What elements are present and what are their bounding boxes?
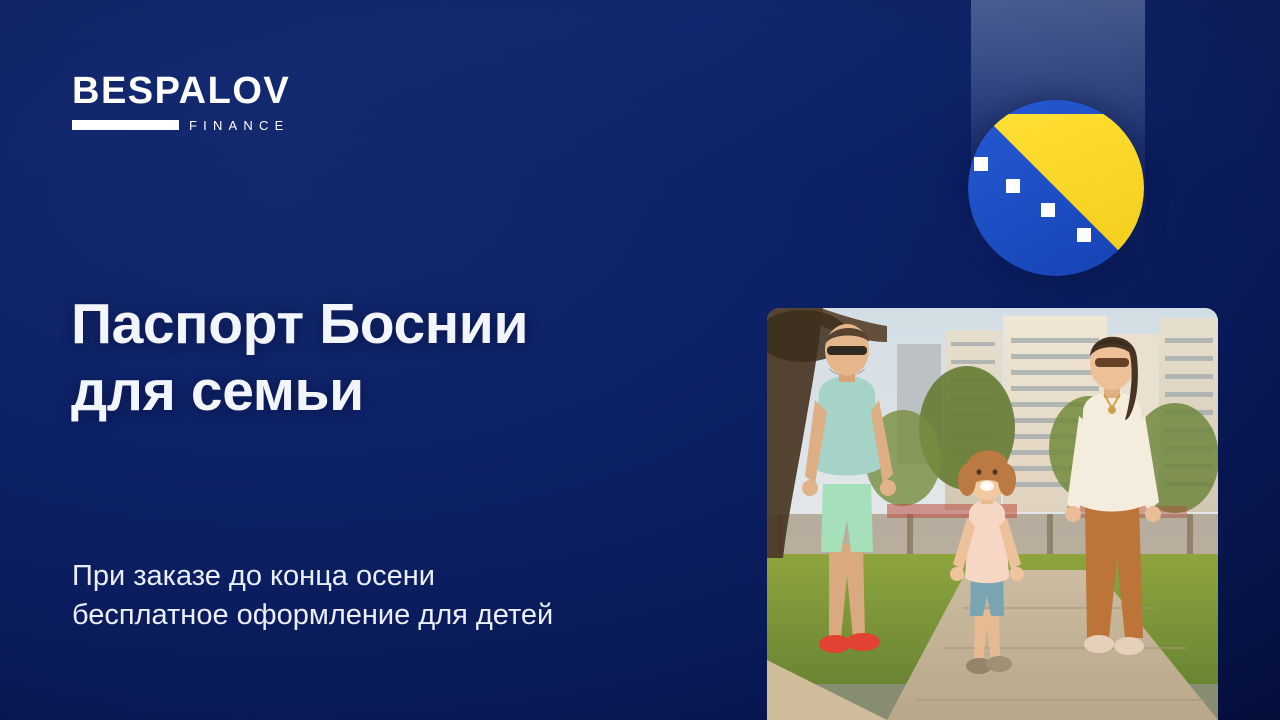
family-photo <box>767 308 1218 720</box>
brand-name: BESPALOV <box>72 72 372 110</box>
brand-tagline: FINANCE <box>189 119 289 132</box>
brand-tagline-row: FINANCE <box>72 119 372 131</box>
promo-subtitle: При заказе до конца осени бесплатное офо… <box>72 557 553 636</box>
page-title: Паспорт Боснии для семьи <box>71 291 528 424</box>
bosnia-herzegovina-flag-circle-icon <box>968 100 1144 276</box>
brand-logo[interactable]: BESPALOV FINANCE <box>72 72 372 131</box>
promo-slide: BESPALOV FINANCE <box>0 0 1280 720</box>
brand-rule-bar <box>72 120 179 130</box>
